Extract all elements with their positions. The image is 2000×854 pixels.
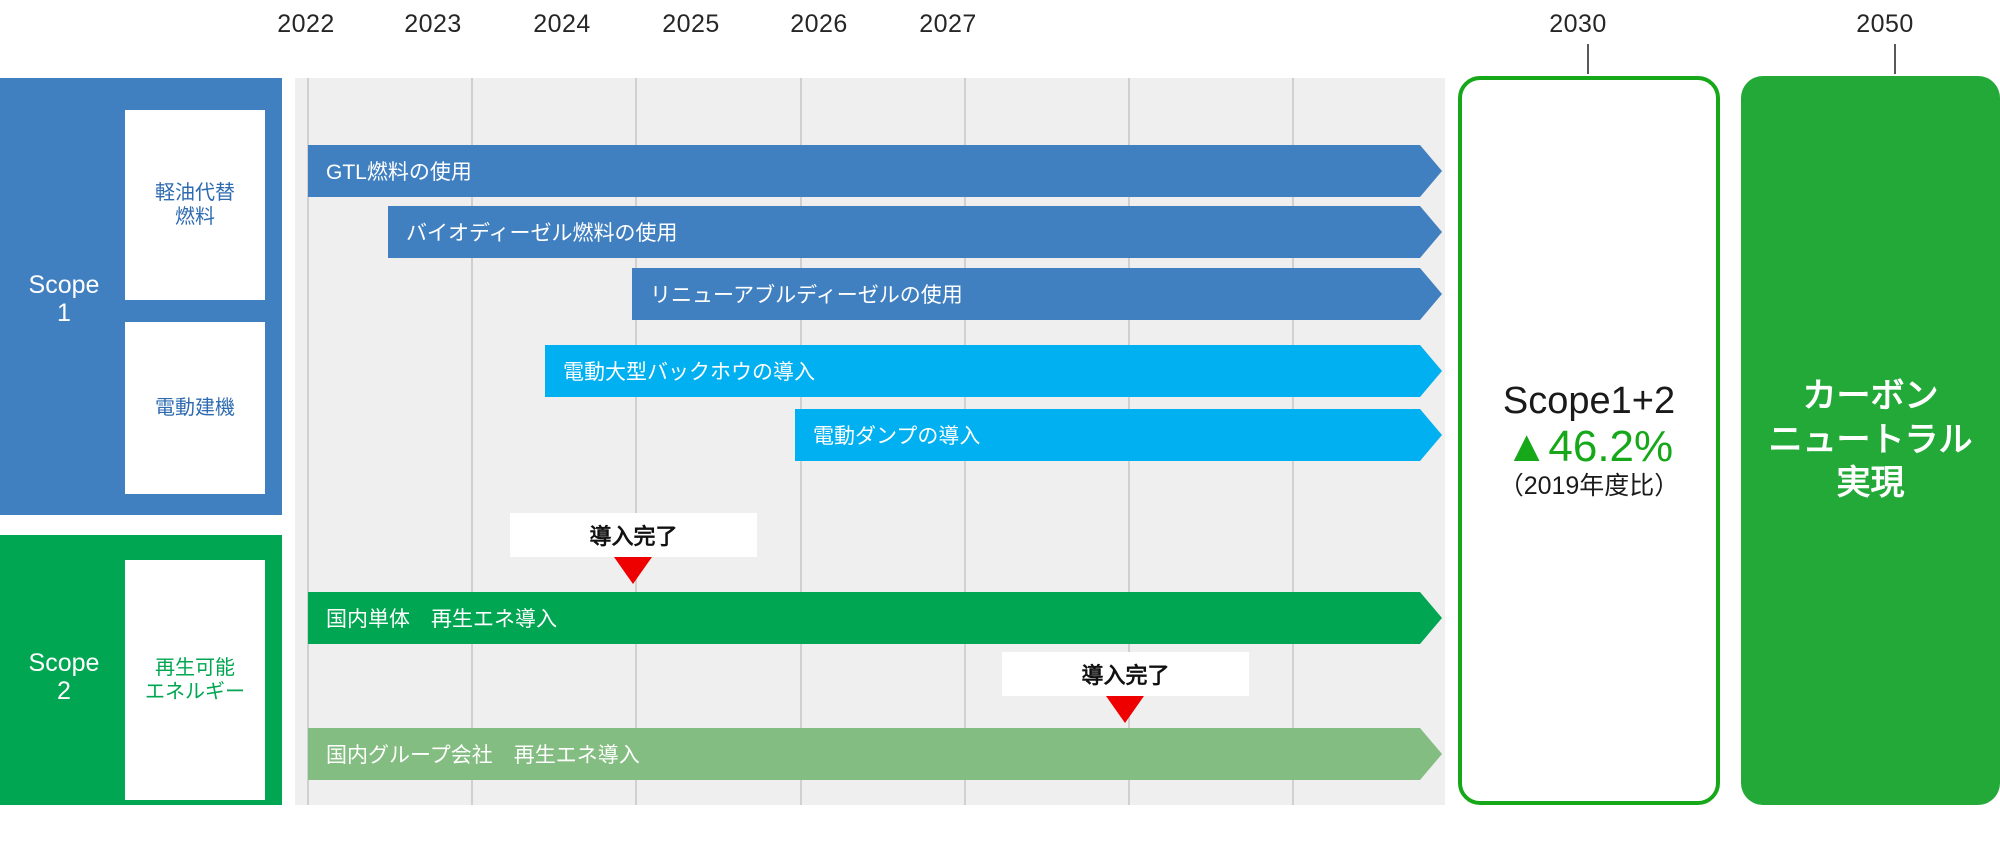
milestone-callout-1-marker-icon xyxy=(614,557,652,584)
bar-domestic-group-renewable-label: 国内グループ会社 再生エネ導入 xyxy=(308,739,640,769)
bar-domestic-single-renewable-label: 国内単体 再生エネ導入 xyxy=(308,603,557,633)
scope2-subgroup-renewable: 再生可能 エネルギー xyxy=(125,560,265,800)
milestone-callout-1-box: 導入完了 xyxy=(510,513,757,557)
year-label-2024: 2024 xyxy=(502,10,622,39)
scope1-subgroup-fuel: 軽油代替 燃料 xyxy=(125,110,265,300)
bar-electric-dump[interactable]: 電動ダンプの導入 xyxy=(795,409,1442,461)
scope1-title: Scope 1 xyxy=(0,272,128,332)
year-label-2023: 2023 xyxy=(373,10,493,39)
target-2030-line1: Scope1+2 xyxy=(1503,380,1675,423)
bar-biodiesel[interactable]: バイオディーゼル燃料の使用 xyxy=(388,206,1442,258)
scope1-subgroup-machinery: 電動建機 xyxy=(125,322,265,494)
scope2-title: Scope 2 xyxy=(0,650,128,710)
target-2050-text: カーボン ニュートラル 実現 xyxy=(1769,375,1973,506)
bar-electric-backhoe-label: 電動大型バックホウの導入 xyxy=(545,356,815,386)
year-label-2022: 2022 xyxy=(246,10,366,39)
bar-electric-dump-label: 電動ダンプの導入 xyxy=(795,420,980,450)
bar-renewable-diesel[interactable]: リニューアブルディーゼルの使用 xyxy=(632,268,1442,320)
milestone-callout-2-box: 導入完了 xyxy=(1002,652,1249,696)
year-tick-2030 xyxy=(1587,44,1589,74)
roadmap-diagram: 2022 2023 2024 2025 2026 2027 2030 2050 … xyxy=(0,0,2000,854)
target-card-2050[interactable]: カーボン ニュートラル 実現 xyxy=(1741,76,2000,805)
milestone-callout-2-marker-icon xyxy=(1106,696,1144,723)
target-2030-line3: （2019年度比） xyxy=(1499,471,1680,501)
year-label-2030: 2030 xyxy=(1518,10,1638,39)
bar-biodiesel-label: バイオディーゼル燃料の使用 xyxy=(388,217,678,247)
bar-renewable-diesel-label: リニューアブルディーゼルの使用 xyxy=(632,279,963,309)
bar-electric-backhoe[interactable]: 電動大型バックホウの導入 xyxy=(545,345,1442,397)
year-tick-2050 xyxy=(1894,44,1896,74)
year-label-2027: 2027 xyxy=(888,10,1008,39)
year-label-2026: 2026 xyxy=(759,10,879,39)
bar-gtl-fuel-label: GTL燃料の使用 xyxy=(308,156,472,186)
target-2030-line2: ▲46.2% xyxy=(1505,422,1673,471)
year-label-2025: 2025 xyxy=(631,10,751,39)
bar-domestic-single-renewable[interactable]: 国内単体 再生エネ導入 xyxy=(308,592,1442,644)
year-label-2050: 2050 xyxy=(1825,10,1945,39)
bar-domestic-group-renewable[interactable]: 国内グループ会社 再生エネ導入 xyxy=(308,728,1442,780)
target-card-2030[interactable]: Scope1+2 ▲46.2% （2019年度比） xyxy=(1458,76,1720,805)
bar-gtl-fuel[interactable]: GTL燃料の使用 xyxy=(308,145,1442,197)
